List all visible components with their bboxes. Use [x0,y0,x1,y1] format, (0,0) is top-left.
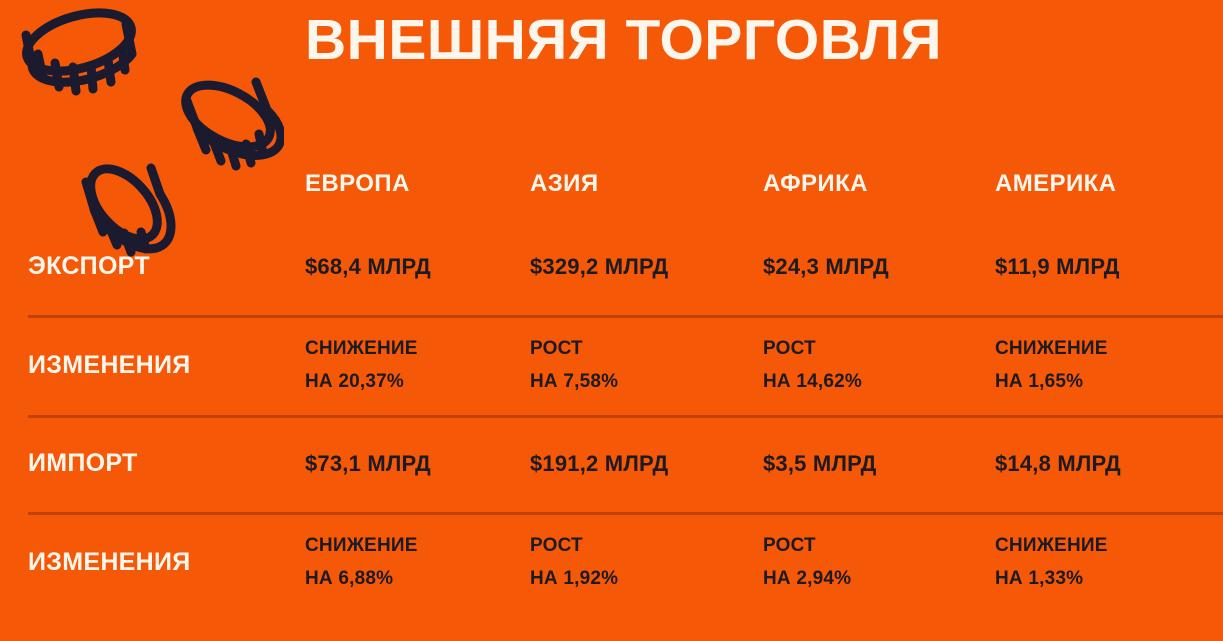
trade-infographic: ВНЕШНЯЯ ТОРГОВЛЯ ЕВРОПА АЗИЯ АФРИКА АМЕР… [0,0,1223,641]
table-row: ИЗМЕНЕНИЯ СНИЖЕНИЕ НА 20,37% РОСТ НА 7,5… [0,315,1223,415]
change-amount: НА 7,58% [530,365,763,398]
export-asia-value: $329,2 МЛРД [530,254,763,280]
change-direction: СНИЖЕНИЕ [305,332,530,365]
row-label-export-change: ИЗМЕНЕНИЯ [0,351,305,380]
import-asia-value: $191,2 МЛРД [530,451,763,477]
import-change-asia: РОСТ НА 1,92% [530,529,763,595]
export-africa-value: $24,3 МЛРД [763,254,995,280]
row-divider [28,512,1223,515]
row-label-import: ИМПОРТ [0,449,305,478]
row-label-export: ЭКСПОРТ [0,252,305,281]
table-row: ИМПОРТ $73,1 МЛРД $191,2 МЛРД $3,5 МЛРД … [0,415,1223,512]
change-direction: РОСТ [530,332,763,365]
change-direction: РОСТ [763,529,995,562]
change-amount: НА 1,33% [995,562,1223,595]
export-change-asia: РОСТ НА 7,58% [530,332,763,398]
import-america-value: $14,8 МЛРД [995,451,1223,477]
page-title: ВНЕШНЯЯ ТОРГОВЛЯ [305,8,942,72]
import-change-africa: РОСТ НА 2,94% [763,529,995,595]
import-europe-value: $73,1 МЛРД [305,451,530,477]
export-change-africa: РОСТ НА 14,62% [763,332,995,398]
row-divider [28,415,1223,418]
trade-table: ЕВРОПА АЗИЯ АФРИКА АМЕРИКА ЭКСПОРТ $68,4… [0,150,1223,612]
import-africa-value: $3,5 МЛРД [763,451,995,477]
export-change-europe: СНИЖЕНИЕ НА 20,37% [305,332,530,398]
coin-icon [14,2,144,112]
import-change-europe: СНИЖЕНИЕ НА 6,88% [305,529,530,595]
change-direction: СНИЖЕНИЕ [995,332,1223,365]
change-direction: РОСТ [763,332,995,365]
row-divider [28,315,1223,318]
column-header-europe: ЕВРОПА [305,170,530,198]
change-amount: НА 14,62% [763,365,995,398]
change-amount: НА 6,88% [305,562,530,595]
change-amount: НА 20,37% [305,365,530,398]
column-header-asia: АЗИЯ [530,170,763,198]
change-direction: СНИЖЕНИЕ [305,529,530,562]
import-change-america: СНИЖЕНИЕ НА 1,33% [995,529,1223,595]
column-header-america: АМЕРИКА [995,170,1223,198]
export-change-america: СНИЖЕНИЕ НА 1,65% [995,332,1223,398]
export-europe-value: $68,4 МЛРД [305,254,530,280]
change-direction: СНИЖЕНИЕ [995,529,1223,562]
change-amount: НА 1,65% [995,365,1223,398]
row-label-import-change: ИЗМЕНЕНИЯ [0,548,305,577]
column-header-africa: АФРИКА [763,170,995,198]
change-amount: НА 2,94% [763,562,995,595]
change-amount: НА 1,92% [530,562,763,595]
table-row: ЭКСПОРТ $68,4 МЛРД $329,2 МЛРД $24,3 МЛР… [0,218,1223,315]
table-row: ИЗМЕНЕНИЯ СНИЖЕНИЕ НА 6,88% РОСТ НА 1,92… [0,512,1223,612]
change-direction: РОСТ [530,529,763,562]
export-america-value: $11,9 МЛРД [995,254,1223,280]
table-header-row: ЕВРОПА АЗИЯ АФРИКА АМЕРИКА [0,150,1223,218]
